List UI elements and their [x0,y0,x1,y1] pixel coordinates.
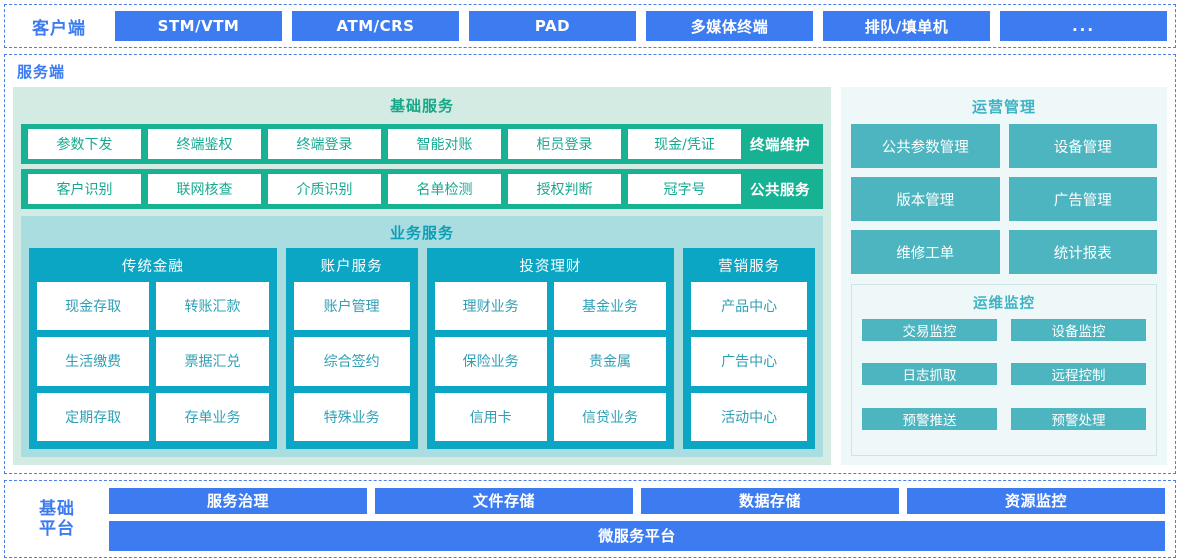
client-item-pad[interactable]: PAD [469,11,636,41]
business-column-investment-finance: 投资理财 理财业务 基金业务 保险业务 贵金属 信用卡 信贷业务 [427,248,675,449]
biz-chip-insurance-business[interactable]: 保险业务 [435,337,547,385]
ops-chip-repair-work-order[interactable]: 维修工单 [851,230,1000,274]
biz-chip-product-center[interactable]: 产品中心 [691,282,807,330]
mon-chip-remote-control[interactable]: 远程控制 [1011,363,1146,385]
biz-chip-bill-exchange[interactable]: 票据汇兑 [156,337,268,385]
monitoring-title: 运维监控 [862,289,1146,319]
business-column-traditional-finance: 传统金融 现金存取 转账汇款 生活缴费 票据汇兑 定期存取 存单业务 [29,248,277,449]
mon-chip-log-capture[interactable]: 日志抓取 [862,363,997,385]
basic-chip-serial-number[interactable]: 冠字号 [628,174,741,204]
platform-chip-data-storage[interactable]: 数据存储 [641,488,899,514]
biz-chip-advertising-center[interactable]: 广告中心 [691,337,807,385]
monitoring-grid: 交易监控 设备监控 日志抓取 远程控制 预警推送 预警处理 [862,319,1146,446]
biz-chip-cash-deposit-withdraw[interactable]: 现金存取 [37,282,149,330]
biz-chip-transfer-remittance[interactable]: 转账汇款 [156,282,268,330]
basic-chip-cash-voucher[interactable]: 现金/凭证 [628,129,741,159]
basic-chip-terminal-login[interactable]: 终端登录 [268,129,381,159]
biz-chip-fixed-deposit[interactable]: 定期存取 [37,393,149,441]
basic-services-title: 基础服务 [21,93,823,119]
platform-chip-resource-monitoring[interactable]: 资源监控 [907,488,1165,514]
ops-chip-public-parameter-management[interactable]: 公共参数管理 [851,124,1000,168]
biz-chip-living-payment[interactable]: 生活缴费 [37,337,149,385]
business-column-title-investment-finance: 投资理财 [435,253,667,282]
biz-chip-account-management[interactable]: 账户管理 [294,282,410,330]
business-services-panel: 业务服务 传统金融 现金存取 转账汇款 生活缴费 票据汇兑 定期存取 存单业务 [21,216,823,457]
monitoring-panel: 运维监控 交易监控 设备监控 日志抓取 远程控制 预警推送 预警处理 [851,284,1157,456]
operations-grid: 公共参数管理 设备管理 版本管理 广告管理 维修工单 统计报表 [851,124,1157,274]
business-grid-investment-finance: 理财业务 基金业务 保险业务 贵金属 信用卡 信贷业务 [435,282,667,441]
platform-row-top: 服务治理 文件存储 数据存储 资源监控 [109,488,1165,514]
client-item-multimedia-terminal[interactable]: 多媒体终端 [646,11,813,41]
platform-chip-microservice-platform[interactable]: 微服务平台 [109,521,1165,551]
server-body: 基础服务 参数下发 终端鉴权 终端登录 智能对账 柜员登录 现金/凭证 终端维护… [13,87,1167,465]
ops-chip-statistical-report[interactable]: 统计报表 [1009,230,1158,274]
basic-chip-customer-identification[interactable]: 客户识别 [28,174,141,204]
server-layer: 服务端 基础服务 参数下发 终端鉴权 终端登录 智能对账 柜员登录 现金/凭证 … [4,54,1176,474]
client-layer: 客户端 STM/VTM ATM/CRS PAD 多媒体终端 排队/填单机 ... [4,4,1176,48]
business-grid-account-service: 账户管理 综合签约 特殊业务 [294,282,410,441]
biz-chip-wealth-management[interactable]: 理财业务 [435,282,547,330]
ops-chip-device-management[interactable]: 设备管理 [1009,124,1158,168]
mon-chip-alert-handling[interactable]: 预警处理 [1011,408,1146,430]
platform-content: 服务治理 文件存储 数据存储 资源监控 微服务平台 [109,488,1165,551]
server-layer-title: 服务端 [17,61,1167,82]
business-grid-traditional-finance: 现金存取 转账汇款 生活缴费 票据汇兑 定期存取 存单业务 [37,282,269,441]
basic-chip-terminal-auth[interactable]: 终端鉴权 [148,129,261,159]
business-services-columns: 传统金融 现金存取 转账汇款 生活缴费 票据汇兑 定期存取 存单业务 [29,248,815,449]
basic-chip-smart-reconciliation[interactable]: 智能对账 [388,129,501,159]
platform-chip-file-storage[interactable]: 文件存储 [375,488,633,514]
biz-chip-certificate-deposit[interactable]: 存单业务 [156,393,268,441]
platform-title-line1: 基础 [15,499,99,519]
operations-title: 运营管理 [851,93,1157,124]
basic-chip-media-recognition[interactable]: 介质识别 [268,174,381,204]
business-column-marketing-service: 营销服务 产品中心 广告中心 活动中心 [683,248,815,449]
basic-chip-param-dispatch[interactable]: 参数下发 [28,129,141,159]
basic-services-row-terminal-maintenance: 参数下发 终端鉴权 终端登录 智能对账 柜员登录 现金/凭证 终端维护 [21,124,823,164]
business-column-account-service: 账户服务 账户管理 综合签约 特殊业务 [286,248,418,449]
client-layer-title: 客户端 [13,14,105,39]
biz-chip-fund-business[interactable]: 基金业务 [554,282,666,330]
basic-chip-teller-login[interactable]: 柜员登录 [508,129,621,159]
basic-services-row-public-service: 客户识别 联网核查 介质识别 名单检测 授权判断 冠字号 公共服务 [21,169,823,209]
operations-panel: 运营管理 公共参数管理 设备管理 版本管理 广告管理 维修工单 统计报表 运维监… [841,87,1167,465]
ops-chip-version-management[interactable]: 版本管理 [851,177,1000,221]
services-panel: 基础服务 参数下发 终端鉴权 终端登录 智能对账 柜员登录 现金/凭证 终端维护… [13,87,831,465]
mon-chip-transaction-monitoring[interactable]: 交易监控 [862,319,997,341]
business-services-title: 业务服务 [29,220,815,248]
biz-chip-comprehensive-signing[interactable]: 综合签约 [294,337,410,385]
client-item-queue-form-machine[interactable]: 排队/填单机 [823,11,990,41]
mon-chip-device-monitoring[interactable]: 设备监控 [1011,319,1146,341]
basic-chip-online-verification[interactable]: 联网核查 [148,174,261,204]
business-column-title-account-service: 账户服务 [294,253,410,282]
platform-layer-title: 基础 平台 [15,499,99,539]
business-column-title-traditional-finance: 传统金融 [37,253,269,282]
biz-chip-credit-business[interactable]: 信贷业务 [554,393,666,441]
business-grid-marketing-service: 产品中心 广告中心 活动中心 [691,282,807,441]
basic-services-row-label-public-service: 公共服务 [748,179,816,200]
client-item-more[interactable]: ... [1000,11,1167,41]
biz-chip-activity-center[interactable]: 活动中心 [691,393,807,441]
business-column-title-marketing-service: 营销服务 [691,253,807,282]
biz-chip-precious-metals[interactable]: 贵金属 [554,337,666,385]
mon-chip-alert-push[interactable]: 预警推送 [862,408,997,430]
basic-chip-authorization-judgement[interactable]: 授权判断 [508,174,621,204]
platform-chip-service-governance[interactable]: 服务治理 [109,488,367,514]
platform-layer: 基础 平台 服务治理 文件存储 数据存储 资源监控 微服务平台 [4,480,1176,558]
client-item-atm-crs[interactable]: ATM/CRS [292,11,459,41]
platform-title-line2: 平台 [15,519,99,539]
biz-chip-credit-card[interactable]: 信用卡 [435,393,547,441]
basic-services-row-label-terminal-maintenance: 终端维护 [748,134,816,155]
biz-chip-special-business[interactable]: 特殊业务 [294,393,410,441]
basic-chip-list-detection[interactable]: 名单检测 [388,174,501,204]
ops-chip-advertising-management[interactable]: 广告管理 [1009,177,1158,221]
architecture-diagram: 客户端 STM/VTM ATM/CRS PAD 多媒体终端 排队/填单机 ...… [0,0,1180,560]
client-item-stm-vtm[interactable]: STM/VTM [115,11,282,41]
